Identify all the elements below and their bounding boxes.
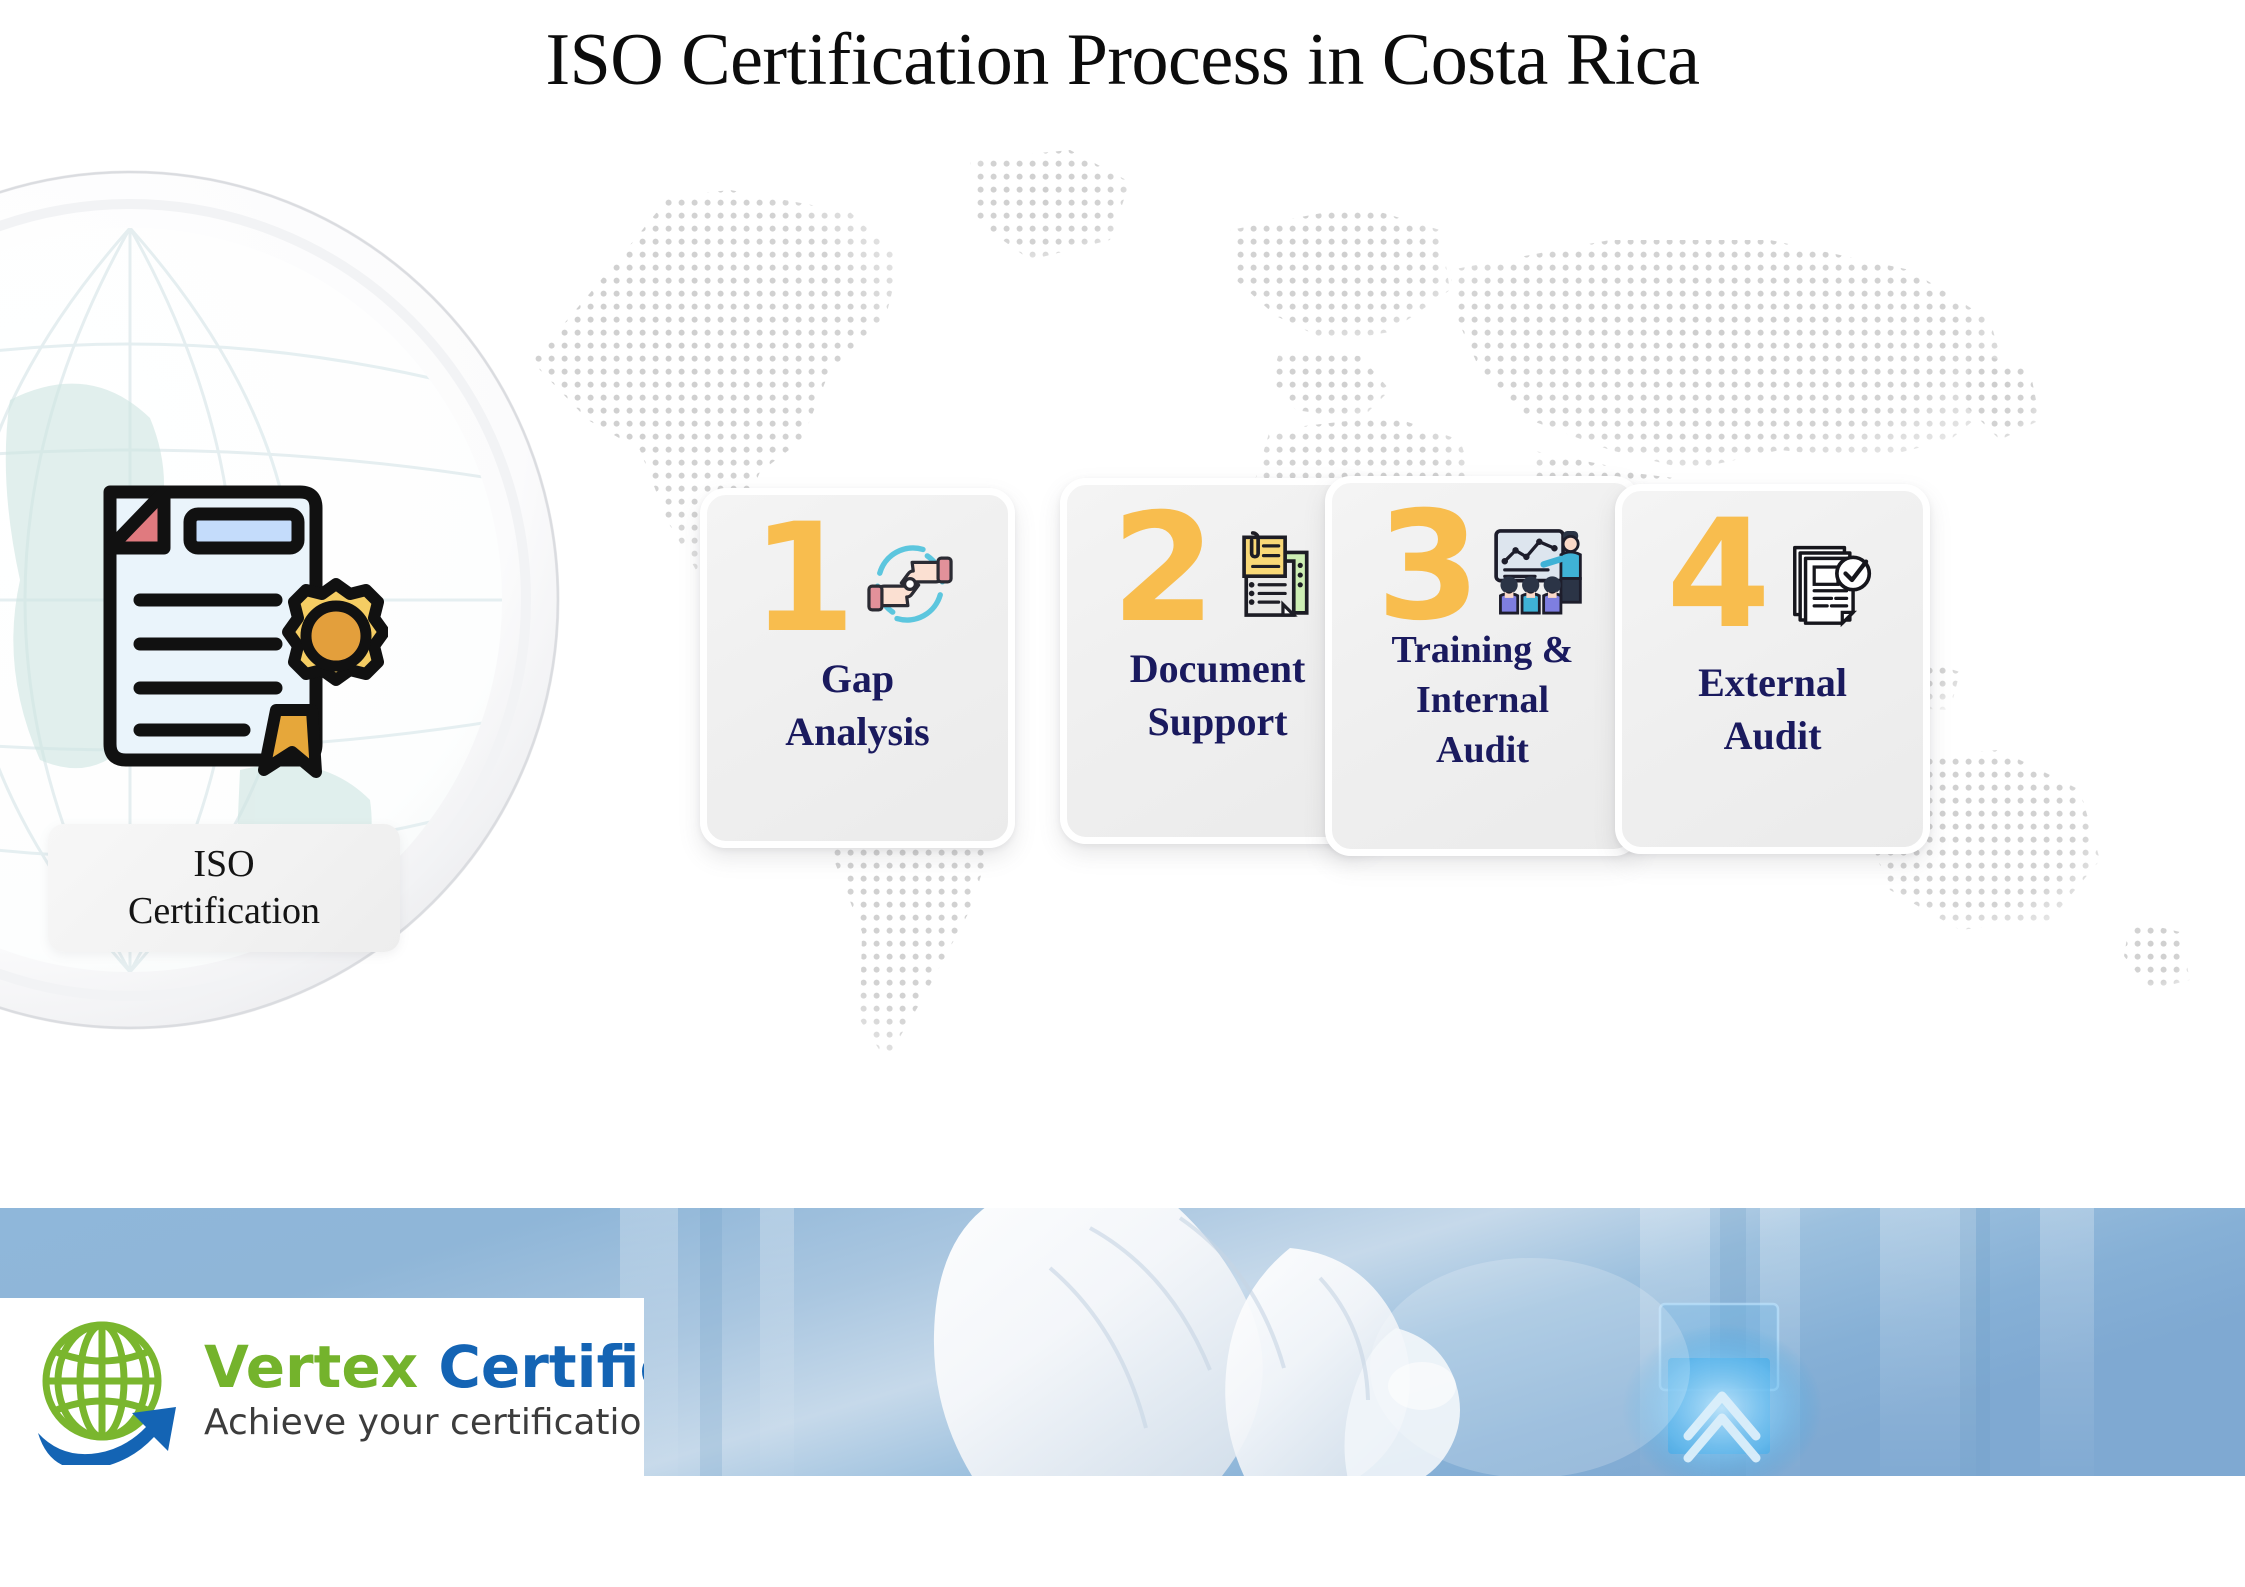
step-2-label-line1: Document [1075, 643, 1360, 696]
step-3-label-line1: Training & [1340, 625, 1625, 675]
brand-word-certifiers: Certifiers [438, 1333, 644, 1401]
step-number-4: 4 [1666, 512, 1764, 640]
training-presentation-icon [1481, 518, 1589, 626]
step-3-label-line2: Internal [1340, 675, 1625, 725]
step-number-3: 3 [1376, 504, 1474, 632]
step-card-label: External Audit [1630, 657, 1915, 763]
step-3-label-line3: Audit [1340, 725, 1625, 775]
step-card-label: Training & Internal Audit [1340, 625, 1625, 775]
documents-clipboard-icon [1216, 520, 1324, 628]
step-number-1: 1 [751, 516, 849, 644]
brand-word-vertex: Vertex [204, 1333, 418, 1401]
step-card-label: Document Support [1075, 643, 1360, 749]
step-card-header: 2 [1067, 499, 1368, 649]
step-4-label-line1: External [1630, 657, 1915, 710]
step-card-training-internal-audit[interactable]: 3 [1325, 476, 1640, 856]
documents-checkmark-icon [1771, 526, 1879, 634]
brand-name: Vertex Certifiers [204, 1338, 644, 1396]
step-4-label-line2: Audit [1630, 710, 1915, 763]
certificate-document-seal-icon [68, 452, 388, 782]
process-steps-row: 1 Gap [700, 478, 2220, 878]
step-number-2: 2 [1111, 506, 1209, 634]
step-card-external-audit[interactable]: 4 [1615, 484, 1930, 854]
page-title: ISO Certification Process in Costa Rica [0, 18, 2245, 103]
step-card-header: 1 [707, 509, 1008, 659]
step-card-gap-analysis[interactable]: 1 Gap [700, 488, 1015, 848]
iso-certification-label: ISO Certification [48, 824, 400, 952]
step-2-label-line2: Support [1075, 696, 1360, 749]
iso-label-line1: ISO [193, 844, 254, 885]
infographic-canvas: ISO Certification ISO Certification Proc… [0, 0, 2245, 1587]
globe-arrow-logo-icon [26, 1315, 186, 1465]
footer-strip [0, 1476, 2245, 1587]
brand-logo[interactable]: Vertex Certifiers Achieve your certifica… [0, 1298, 644, 1482]
step-1-label-line1: Gap [715, 653, 1000, 706]
handshake-collaboration-icon [856, 530, 964, 638]
step-1-label-line2: Analysis [715, 706, 1000, 759]
brand-text: Vertex Certifiers Achieve your certifica… [204, 1338, 644, 1443]
step-card-label: Gap Analysis [715, 653, 1000, 759]
iso-label-line2: Certification [128, 891, 320, 932]
step-card-header: 4 [1622, 505, 1923, 655]
brand-tagline: Achieve your certifications! [204, 1402, 644, 1443]
